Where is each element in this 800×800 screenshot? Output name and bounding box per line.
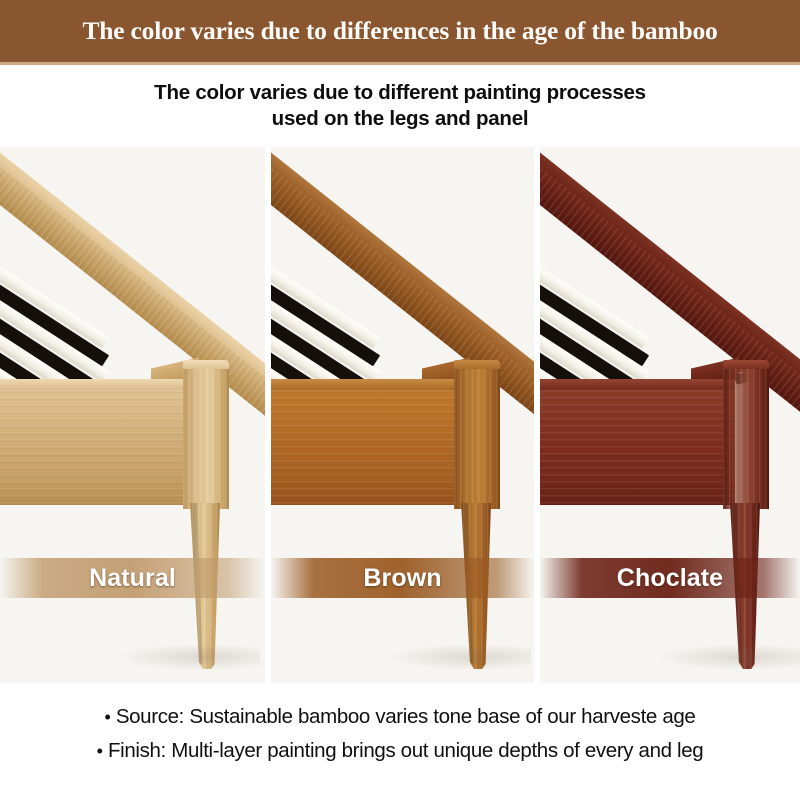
feature-bullet-list: • Source: Sustainable bamboo varies tone… — [0, 700, 800, 768]
list-item: • Source: Sustainable bamboo varies tone… — [0, 700, 800, 734]
subtitle: The color varies due to different painti… — [0, 80, 800, 132]
color-variant-panel-brown[interactable]: Brown — [271, 147, 534, 683]
header-underline-divider — [0, 62, 800, 65]
corner-post-natural — [183, 369, 229, 509]
variant-label-choclate: Choclate — [617, 564, 723, 593]
floor-shadow-choclate — [660, 644, 800, 670]
label-band-natural: Natural — [0, 558, 265, 598]
floor-shadow-brown — [391, 644, 531, 670]
front-apron-natural — [0, 390, 195, 505]
header-banner: The color varies due to differences in t… — [0, 0, 800, 62]
variant-label-brown: Brown — [363, 564, 441, 593]
bullet-marker-icon: • — [97, 741, 103, 761]
front-apron-choclate — [540, 390, 735, 505]
bullet-text-source: Source: Sustainable bamboo varies tone b… — [116, 705, 696, 728]
bullet-marker-icon: • — [105, 707, 111, 727]
color-variant-panel-natural[interactable]: Natural — [0, 147, 265, 683]
subtitle-line-2: used on the legs and panel — [0, 106, 800, 132]
corner-post-choclate — [723, 369, 769, 509]
front-apron-brown — [271, 390, 466, 505]
label-band-brown: Brown — [271, 558, 534, 598]
floor-shadow-natural — [120, 644, 260, 670]
page-title: The color varies due to differences in t… — [82, 16, 717, 46]
bullet-text-finish: Finish: Multi-layer painting brings out … — [108, 739, 703, 762]
label-band-choclate: Choclate — [540, 558, 800, 598]
color-variant-gallery: Natural — [0, 147, 800, 683]
list-item: • Finish: Multi-layer painting brings ou… — [0, 734, 800, 768]
variant-label-natural: Natural — [89, 564, 176, 593]
corner-post-brown — [454, 369, 500, 509]
subtitle-line-1: The color varies due to different painti… — [0, 80, 800, 106]
color-variant-panel-choclate[interactable]: Choclate — [540, 147, 800, 683]
